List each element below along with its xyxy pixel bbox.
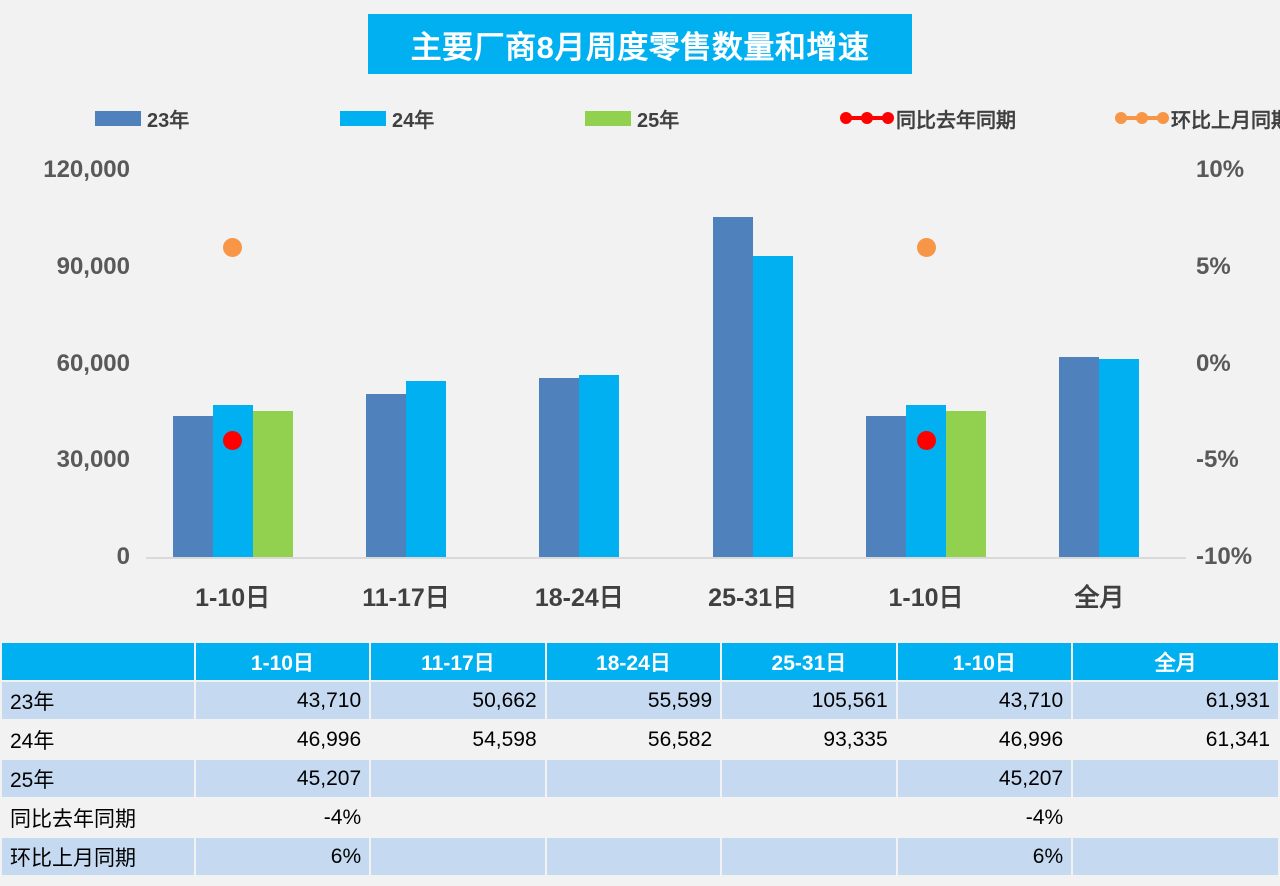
x-axis-label-2: 11-17日: [362, 578, 450, 614]
legend-marker-line-icon: [1115, 110, 1169, 126]
x-axis-label-4: 25-31日: [708, 578, 797, 614]
table-row-label: 同比去年同期: [2, 799, 194, 836]
legend-label: 23年: [147, 104, 189, 133]
table-header-11-17日: 11-17日: [371, 643, 545, 680]
chart-page: 主要厂商8月周度零售数量和增速 23年24年25年同比去年同期环比上月同期 12…: [0, 0, 1280, 886]
legend-label: 24年: [392, 104, 434, 133]
bar-24年-25-31日: [753, 256, 793, 557]
bar-23年-18-24日: [539, 378, 579, 557]
x-axis-label-3: 18-24日: [535, 578, 624, 614]
legend-swatch-icon: [340, 111, 386, 126]
table-row: 23年43,71050,66255,599105,56143,71061,931: [2, 682, 1278, 719]
bar-25年-1-10日: [946, 411, 986, 557]
table-header-全月: 全月: [1073, 643, 1278, 680]
y-axis-right-tick: 0%: [1196, 350, 1231, 378]
table-cell: 55,599: [547, 682, 721, 719]
table-header-1-10日: 1-10日: [898, 643, 1072, 680]
chart-title-banner: 主要厂商8月周度零售数量和增速: [368, 14, 912, 74]
table-row-label: 环比上月同期: [2, 838, 194, 875]
bar-23年-25-31日: [713, 217, 753, 557]
y-axis-right-tick: -5%: [1196, 446, 1239, 474]
table-cell: 43,710: [196, 682, 370, 719]
table-header-1-10日: 1-10日: [196, 643, 370, 680]
marker-环比上月同期-1-10日: [917, 238, 936, 257]
bar-24年-全月: [1099, 359, 1139, 557]
x-axis-label-6: 全月: [1074, 578, 1124, 614]
bar-23年-全月: [1059, 357, 1099, 557]
table-row: 25年45,20745,207: [2, 760, 1278, 797]
chart-plot: 120,00090,00060,00030,0000 10%5%0%-5%-10…: [0, 150, 1280, 570]
table-cell: 6%: [196, 838, 370, 875]
y-axis-left-tick: 0: [117, 543, 130, 571]
bar-23年-1-10日: [173, 416, 213, 557]
table-cell: [547, 799, 721, 836]
table-cell: 61,341: [1073, 721, 1278, 758]
table-cell: 93,335: [722, 721, 896, 758]
table-cell: 43,710: [898, 682, 1072, 719]
legend-swatch-icon: [95, 111, 141, 126]
table-cell: [722, 838, 896, 875]
table-row: 环比上月同期6%6%: [2, 838, 1278, 875]
table-row-label: 23年: [2, 682, 194, 719]
legend-item-3[interactable]: 25年: [585, 100, 679, 136]
table-cell: 6%: [898, 838, 1072, 875]
table-cell: 45,207: [898, 760, 1072, 797]
table-cell: [547, 760, 721, 797]
x-axis-line: [146, 557, 1186, 559]
y-axis-left-tick: 60,000: [57, 350, 130, 378]
table-row: 24年46,99654,59856,58293,33546,99661,341: [2, 721, 1278, 758]
table-cell: [371, 799, 545, 836]
x-axis-label-1: 1-10日: [195, 578, 270, 614]
bar-24年-1-10日: [213, 405, 253, 557]
table-cell: 61,931: [1073, 682, 1278, 719]
bar-23年-11-17日: [366, 394, 406, 557]
table-cell: [722, 760, 896, 797]
y-axis-right-tick: -10%: [1196, 543, 1252, 571]
x-axis-label-5: 1-10日: [888, 578, 963, 614]
table-row-label: 24年: [2, 721, 194, 758]
plot-area: [146, 150, 1186, 570]
table-header-18-24日: 18-24日: [547, 643, 721, 680]
table-header-25-31日: 25-31日: [722, 643, 896, 680]
table-cell: 56,582: [547, 721, 721, 758]
data-table: 1-10日11-17日18-24日25-31日1-10日全月 23年43,710…: [0, 641, 1280, 877]
y-axis-left-tick: 30,000: [57, 446, 130, 474]
table-cell: -4%: [898, 799, 1072, 836]
marker-环比上月同期-1-10日: [223, 238, 242, 257]
legend-item-4[interactable]: 同比去年同期: [840, 100, 1016, 136]
table-cell: [1073, 760, 1278, 797]
y-axis-left: 120,00090,00060,00030,0000: [0, 150, 140, 570]
legend-item-1[interactable]: 23年: [95, 100, 189, 136]
x-axis-labels: 1-10日11-17日18-24日25-31日1-10日全月: [146, 578, 1186, 618]
legend-label: 环比上月同期: [1171, 104, 1280, 133]
table-cell: 50,662: [371, 682, 545, 719]
table-cell: 45,207: [196, 760, 370, 797]
table-header-row: 1-10日11-17日18-24日25-31日1-10日全月: [2, 643, 1278, 680]
y-axis-left-tick: 90,000: [57, 253, 130, 281]
bar-24年-18-24日: [579, 375, 619, 557]
legend-marker-line-icon: [840, 110, 894, 126]
table-row-label: 25年: [2, 760, 194, 797]
table-cell: [547, 838, 721, 875]
table-cell: -4%: [196, 799, 370, 836]
chart-legend: 23年24年25年同比去年同期环比上月同期: [95, 100, 1205, 136]
bar-24年-11-17日: [406, 381, 446, 557]
data-table-wrapper: 1-10日11-17日18-24日25-31日1-10日全月 23年43,710…: [0, 641, 1280, 886]
table-cell: [371, 760, 545, 797]
table-header-corner: [2, 643, 194, 680]
bar-23年-1-10日: [866, 416, 906, 557]
table-cell: [722, 799, 896, 836]
y-axis-left-tick: 120,000: [43, 156, 130, 184]
bar-25年-1-10日: [253, 411, 293, 557]
bar-24年-1-10日: [906, 405, 946, 557]
page-title: 主要厂商8月周度零售数量和增速: [411, 22, 870, 67]
legend-item-2[interactable]: 24年: [340, 100, 434, 136]
legend-label: 25年: [637, 104, 679, 133]
legend-label: 同比去年同期: [896, 104, 1016, 133]
table-cell: [371, 838, 545, 875]
table-row: 同比去年同期-4%-4%: [2, 799, 1278, 836]
legend-swatch-icon: [585, 111, 631, 126]
table-cell: 46,996: [196, 721, 370, 758]
table-cell: [1073, 799, 1278, 836]
y-axis-right-tick: 5%: [1196, 253, 1231, 281]
y-axis-right: 10%5%0%-5%-10%: [1188, 150, 1280, 570]
table-cell: 105,561: [722, 682, 896, 719]
table-body: 23年43,71050,66255,599105,56143,71061,931…: [2, 682, 1278, 875]
table-cell: 54,598: [371, 721, 545, 758]
legend-item-5[interactable]: 环比上月同期: [1115, 100, 1280, 136]
table-cell: 46,996: [898, 721, 1072, 758]
marker-同比去年同期-1-10日: [917, 431, 936, 450]
table-cell: [1073, 838, 1278, 875]
y-axis-right-tick: 10%: [1196, 156, 1244, 184]
